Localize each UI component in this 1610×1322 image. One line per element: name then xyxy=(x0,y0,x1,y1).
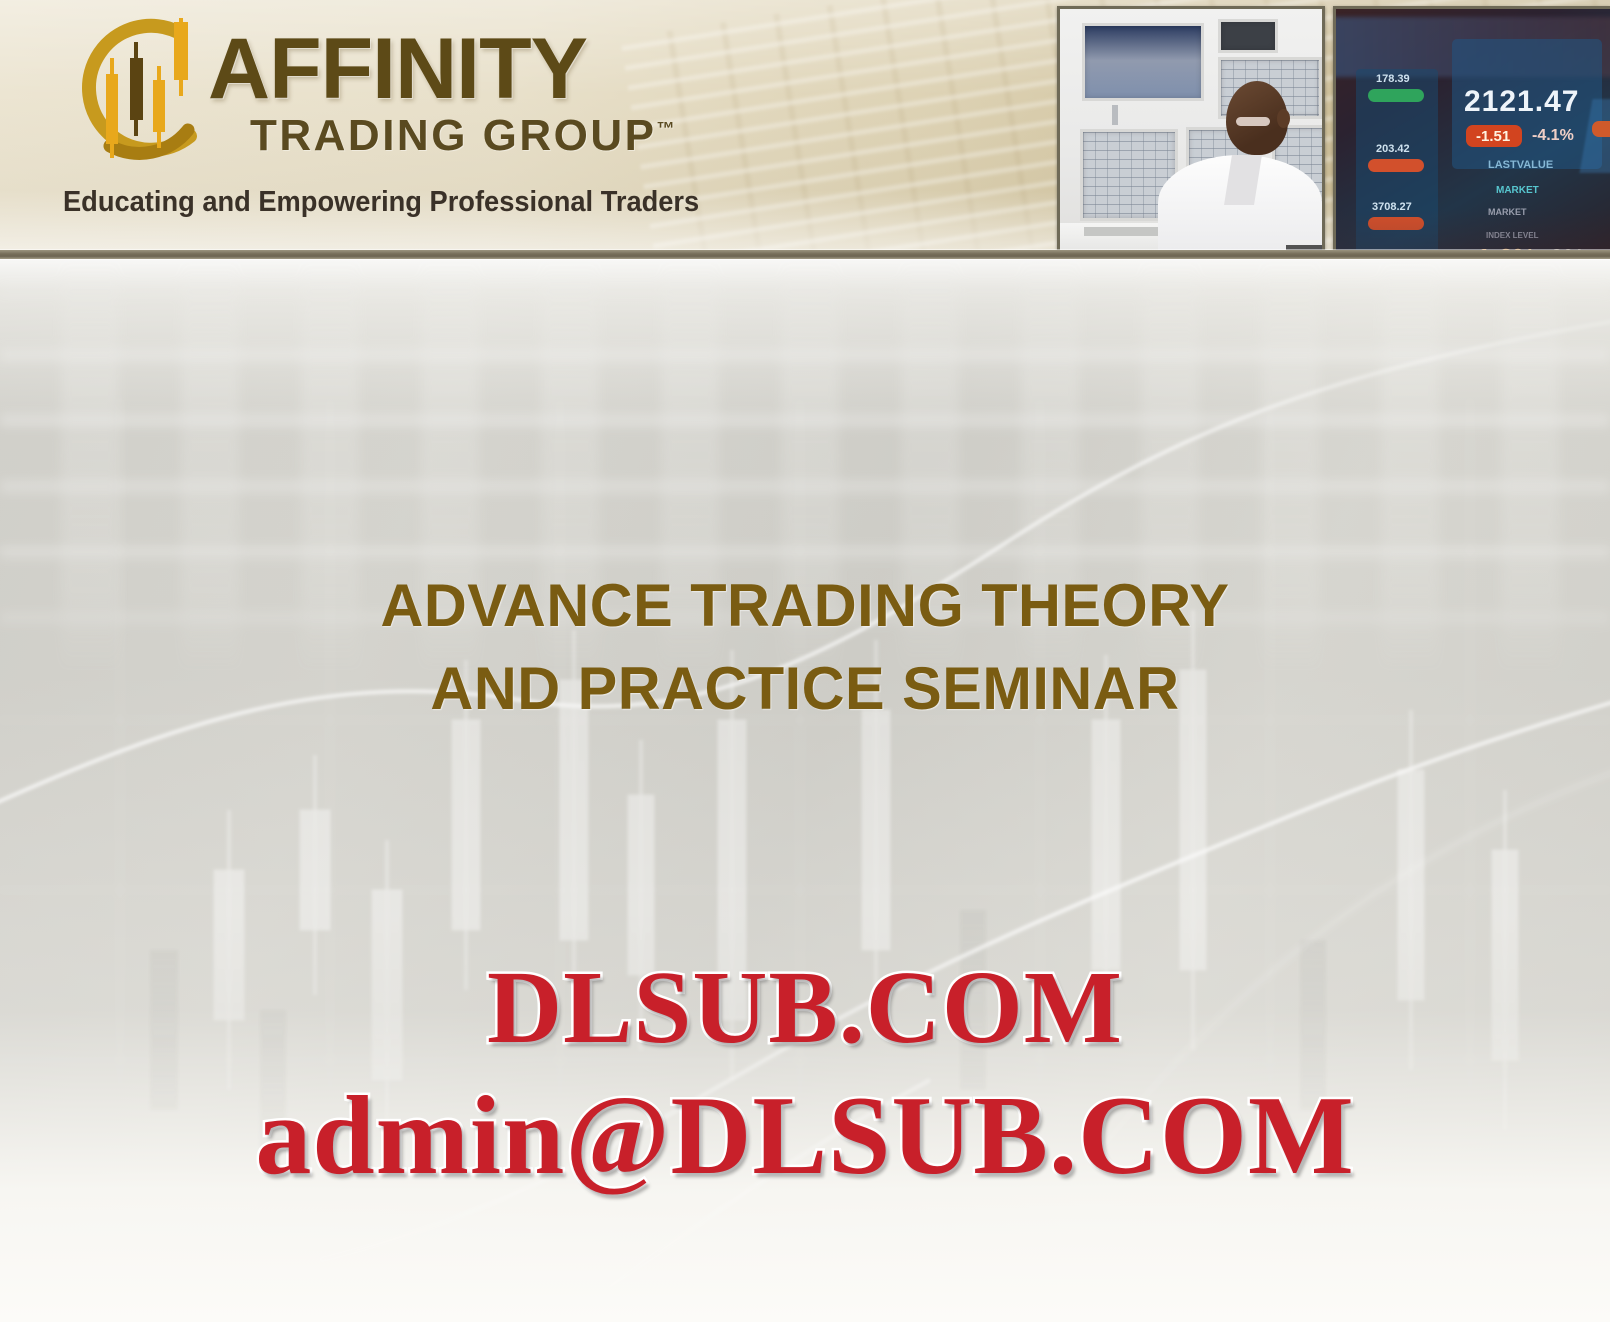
candlestick-arc-logo-icon xyxy=(70,18,215,173)
brand-subtitle: TRADING GROUP™ xyxy=(250,114,675,158)
page-title-line-2: AND PRACTICE SEMINAR xyxy=(8,648,1602,731)
watermark-email: admin@DLSUB.COM xyxy=(0,1072,1610,1201)
brand-tagline: Educating and Empowering Professional Tr… xyxy=(63,186,777,219)
brand-name: AFFINITY xyxy=(208,26,587,112)
trademark-symbol: ™ xyxy=(657,118,675,138)
brand-logo: AFFINITY TRADING GROUP™ Educating and Em… xyxy=(60,8,750,238)
page-title: ADVANCE TRADING THEORY AND PRACTICE SEMI… xyxy=(0,565,1610,731)
thumbnail-trader-at-desk[interactable] xyxy=(1057,6,1325,250)
slide-canvas: AFFINITY TRADING GROUP™ Educating and Em… xyxy=(0,0,1610,1322)
brand-subtitle-text: TRADING GROUP xyxy=(250,111,657,160)
header-divider xyxy=(0,250,1610,259)
watermark-site: DLSUB.COM xyxy=(0,948,1610,1067)
thumbnail-market-ticker-board[interactable]: 178.39 203.42 3708.27 705.42 2121.47 -1.… xyxy=(1333,6,1610,250)
page-title-line-1: ADVANCE TRADING THEORY xyxy=(8,565,1602,648)
header-banner: AFFINITY TRADING GROUP™ Educating and Em… xyxy=(0,0,1610,250)
